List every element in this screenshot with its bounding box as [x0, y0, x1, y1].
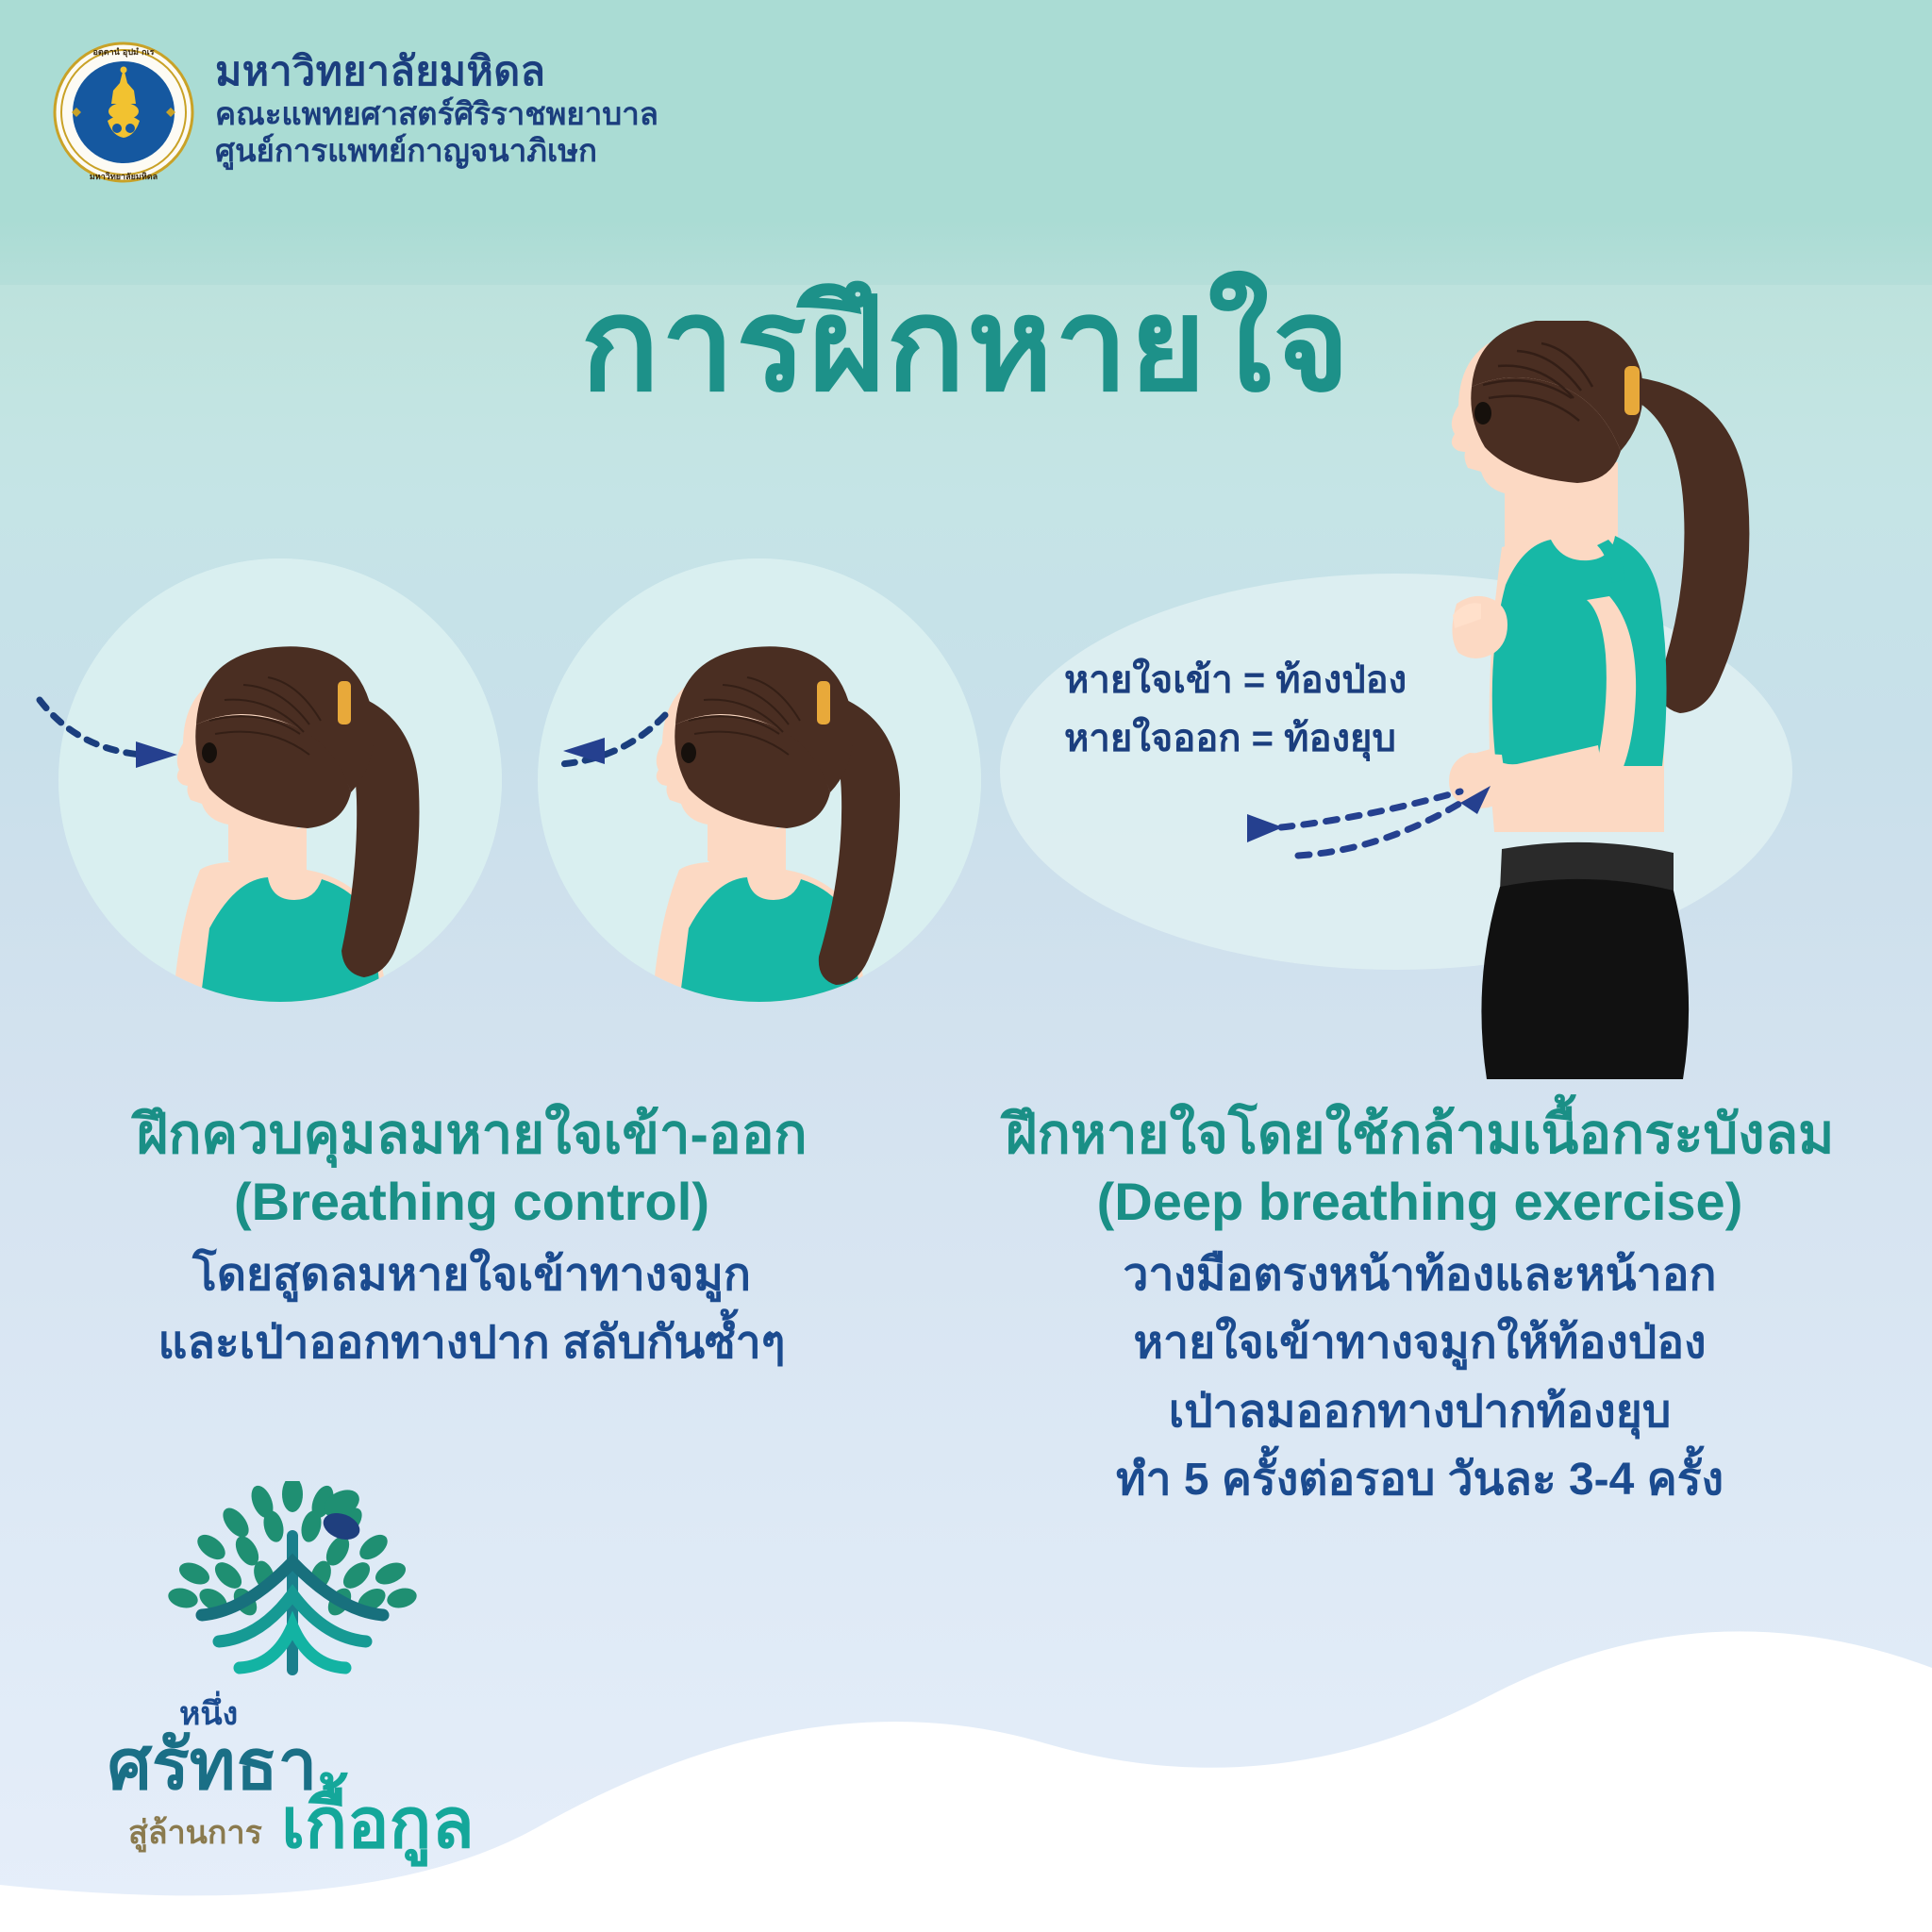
campaign-logo: หนึ่ง ศรัทธา สู่ล้านการ เกื้อกูล	[104, 1481, 481, 1877]
section-body: โดยสูดลมหายใจเข้าทางจมูก และเป่าออกทางปา…	[38, 1243, 906, 1375]
org-line-faculty: คณะแพทยศาสตร์ศิริราชพยาบาล	[215, 96, 658, 133]
dashed-arrow-belly-pair-icon	[1207, 769, 1528, 901]
breathing-note: หายใจเข้า = ท้องป่อง หายใจออก = ท้องยุบ	[1064, 651, 1407, 768]
dashed-arrow-left-icon	[476, 700, 675, 785]
section-breathing-control: ฝึกควบคุมลมหายใจเข้า-ออก (Breathing cont…	[38, 1102, 906, 1376]
body-line: เป่าลมออกทางปากท้องยุบ	[943, 1380, 1896, 1444]
org-line-center: ศูนย์การแพทย์กาญจนาภิเษก	[215, 133, 658, 170]
illustration-circle-inhale	[58, 558, 502, 1002]
svg-text:อตฺตานํ อุปมํ กเร: อตฺตานํ อุปมํ กเร	[93, 47, 155, 58]
illustration-circle-exhale	[538, 558, 981, 1002]
campaign-word-support: เกื้อกูล	[281, 1772, 475, 1867]
woman-standing-hands-chest-abdomen-icon	[1415, 321, 1906, 1094]
dashed-arrow-right-icon	[30, 691, 219, 775]
section-heading-en: (Breathing control)	[38, 1169, 906, 1234]
tree-leaves-emblem-icon	[142, 1481, 443, 1698]
body-line: หายใจเข้าทางจมูกให้ท้องป่อง	[943, 1311, 1896, 1375]
body-line: โดยสูดลมหายใจเข้าทางจมูก	[38, 1243, 906, 1307]
organization-name: มหาวิทยาลัยมหิดล คณะแพทยศาสตร์ศิริราชพยา…	[215, 49, 658, 170]
note-line-inhale: หายใจเข้า = ท้องป่อง	[1064, 651, 1407, 709]
section-deep-breathing-exercise: ฝึกหายใจโดยใช้กล้ามเนื้อกระบังลม (Deep b…	[943, 1102, 1896, 1512]
poster-canvas: อตฺตานํ อุปมํ กเร มหาวิทยาลัยมหิดล มหาวิ…	[0, 0, 1932, 1932]
note-line-exhale: หายใจออก = ท้องยุบ	[1064, 709, 1407, 768]
body-line: ทำ 5 ครั้งต่อรอบ วันละ 3-4 ครั้ง	[943, 1448, 1896, 1512]
section-heading-th: ฝึกควบคุมลมหายใจเข้า-ออก	[38, 1102, 906, 1169]
campaign-word-bottom: สู่ล้านการ	[128, 1815, 263, 1853]
campaign-wordmark: หนึ่ง ศรัทธา สู่ล้านการ เกื้อกูล	[104, 1690, 481, 1870]
body-line: และเป่าออกทางปาก สลับกันซ้ำๆ	[38, 1311, 906, 1375]
body-line: วางมือตรงหน้าท้องและหน้าอก	[943, 1243, 1896, 1307]
org-line-university: มหาวิทยาลัยมหิดล	[215, 49, 658, 94]
section-heading-th: ฝึกหายใจโดยใช้กล้ามเนื้อกระบังลม	[943, 1102, 1896, 1169]
section-heading-en: (Deep breathing exercise)	[943, 1169, 1896, 1234]
section-body: วางมือตรงหน้าท้องและหน้าอก หายใจเข้าทางจ…	[943, 1243, 1896, 1512]
svg-text:มหาวิทยาลัยมหิดล: มหาวิทยาลัยมหิดล	[90, 172, 158, 182]
mahidol-seal-icon: อตฺตานํ อุปมํ กเร มหาวิทยาลัยมหิดล	[53, 42, 194, 183]
